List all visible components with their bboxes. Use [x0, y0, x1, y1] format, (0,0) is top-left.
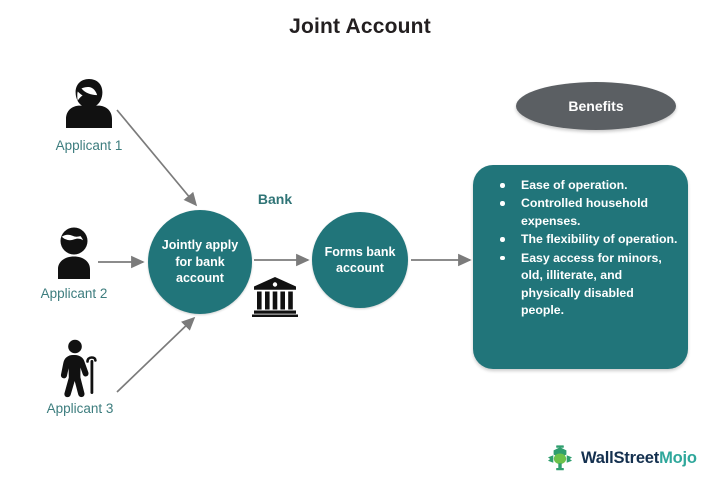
applicant-1-label: Applicant 1	[29, 138, 149, 153]
bank-label: Bank	[240, 191, 310, 207]
benefits-heading-badge: Benefits	[516, 82, 676, 130]
applicant-1-group: Applicant 1	[29, 74, 149, 153]
man-avatar-icon	[14, 222, 134, 284]
elderly-person-with-cane-icon	[20, 337, 140, 399]
wordmark-part1: WallStreet	[581, 449, 659, 467]
wordmark-part2: Mojo	[659, 449, 697, 467]
wordmark: WallStreetMojo	[581, 449, 697, 468]
bank-building-icon	[252, 277, 298, 317]
wallstreetmojo-logo: WallStreetMojo	[545, 443, 697, 473]
list-item: The flexibility of operation.	[485, 231, 678, 248]
woman-avatar-icon	[29, 74, 149, 136]
applicant-2-group: Applicant 2	[14, 222, 134, 301]
benefits-list: Ease of operation. Controlled household …	[485, 177, 678, 320]
bull-logo-icon	[545, 443, 575, 473]
page-title: Joint Account	[0, 15, 720, 39]
applicant-2-label: Applicant 2	[14, 286, 134, 301]
list-item: Easy access for minors, old, illiterate,…	[485, 250, 678, 320]
applicant-3-label: Applicant 3	[20, 401, 140, 416]
applicant-3-group: Applicant 3	[20, 337, 140, 416]
list-item: Controlled household expenses.	[485, 195, 678, 230]
diagram-canvas: Joint Account Applicant 1	[0, 0, 720, 489]
process-node-jointly-apply: Jointly apply for bank account	[148, 210, 252, 314]
list-item: Ease of operation.	[485, 177, 678, 194]
benefits-panel: Ease of operation. Controlled household …	[473, 165, 688, 369]
process-node-forms-bank-account: Forms bank account	[312, 212, 408, 308]
